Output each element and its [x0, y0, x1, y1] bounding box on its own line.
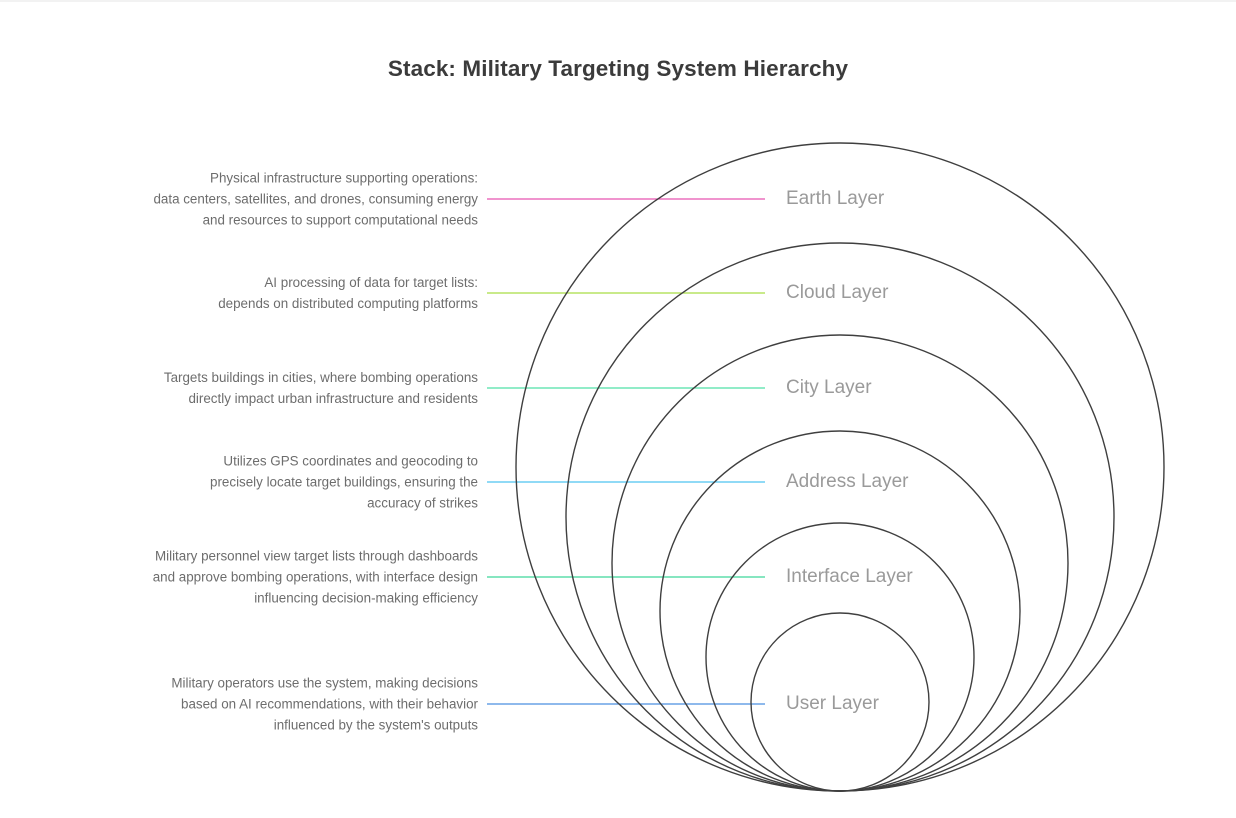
layer-name-earth-layer[interactable]: Earth Layer: [786, 188, 884, 210]
connector-lines-group: [487, 199, 765, 704]
diagram-canvas: Stack: Military Targeting System Hierarc…: [0, 0, 1236, 818]
layer-circle[interactable]: [612, 335, 1068, 791]
layer-name-address-layer[interactable]: Address Layer: [786, 471, 909, 493]
layer-name-user-layer[interactable]: User Layer: [786, 693, 879, 715]
layer-description-user-layer: Military operators use the system, makin…: [171, 673, 478, 736]
layer-description-city-layer: Targets buildings in cities, where bombi…: [164, 367, 478, 409]
layer-name-interface-layer[interactable]: Interface Layer: [786, 566, 913, 588]
layer-circle[interactable]: [706, 523, 974, 791]
layer-description-interface-layer: Military personnel view target lists thr…: [153, 546, 478, 609]
layer-description-earth-layer: Physical infrastructure supporting opera…: [153, 168, 478, 231]
layer-name-city-layer[interactable]: City Layer: [786, 377, 872, 399]
layer-name-cloud-layer[interactable]: Cloud Layer: [786, 282, 888, 304]
layer-description-address-layer: Utilizes GPS coordinates and geocoding t…: [210, 451, 478, 514]
layer-description-cloud-layer: AI processing of data for target lists: …: [218, 272, 478, 314]
